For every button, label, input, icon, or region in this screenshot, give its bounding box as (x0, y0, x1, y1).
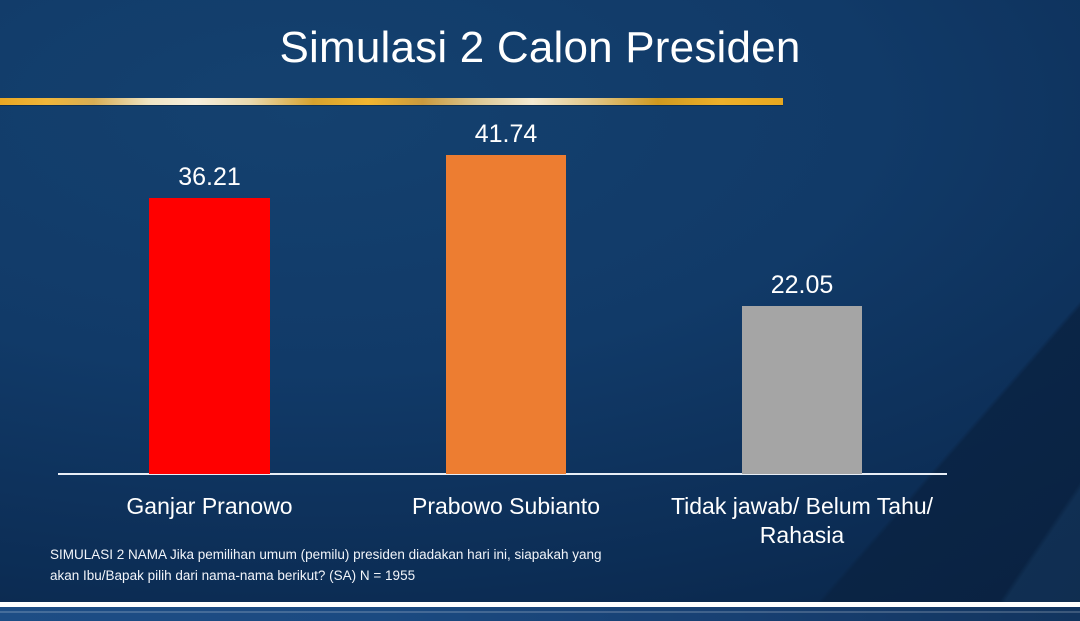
bar-group-1: 41.74 (446, 155, 566, 474)
category-label-1: Prabowo Subianto (386, 492, 626, 521)
bar-value-label-0: 36.21 (149, 165, 270, 190)
bar-prabowo-subianto[interactable] (446, 155, 566, 474)
category-label-2: Tidak jawab/ Belum Tahu/ Rahasia (643, 492, 961, 550)
bar-group-2: 22.05 (742, 306, 862, 474)
category-label-0: Ganjar Pranowo (89, 492, 330, 521)
bar-group-0: 36.21 (149, 198, 270, 474)
bar-value-label-2: 22.05 (742, 273, 862, 298)
bar-tidak-jawab[interactable] (742, 306, 862, 474)
chart-footnote: SIMULASI 2 NAMA Jika pemilihan umum (pem… (50, 545, 750, 587)
bar-value-label-1: 41.74 (446, 122, 566, 147)
footer-band-highlight (0, 611, 1080, 613)
footnote-line-2: akan Ibu/Bapak pilih dari nama-nama beri… (50, 566, 750, 587)
bar-chart: 36.21 Ganjar Pranowo 41.74 Prabowo Subia… (0, 0, 1080, 621)
presentation-slide: Simulasi 2 Calon Presiden 36.21 Ganjar P… (0, 0, 1080, 621)
bar-ganjar-pranowo[interactable] (149, 198, 270, 474)
footnote-line-1: SIMULASI 2 NAMA Jika pemilihan umum (pem… (50, 545, 750, 566)
footer-band (0, 607, 1080, 621)
